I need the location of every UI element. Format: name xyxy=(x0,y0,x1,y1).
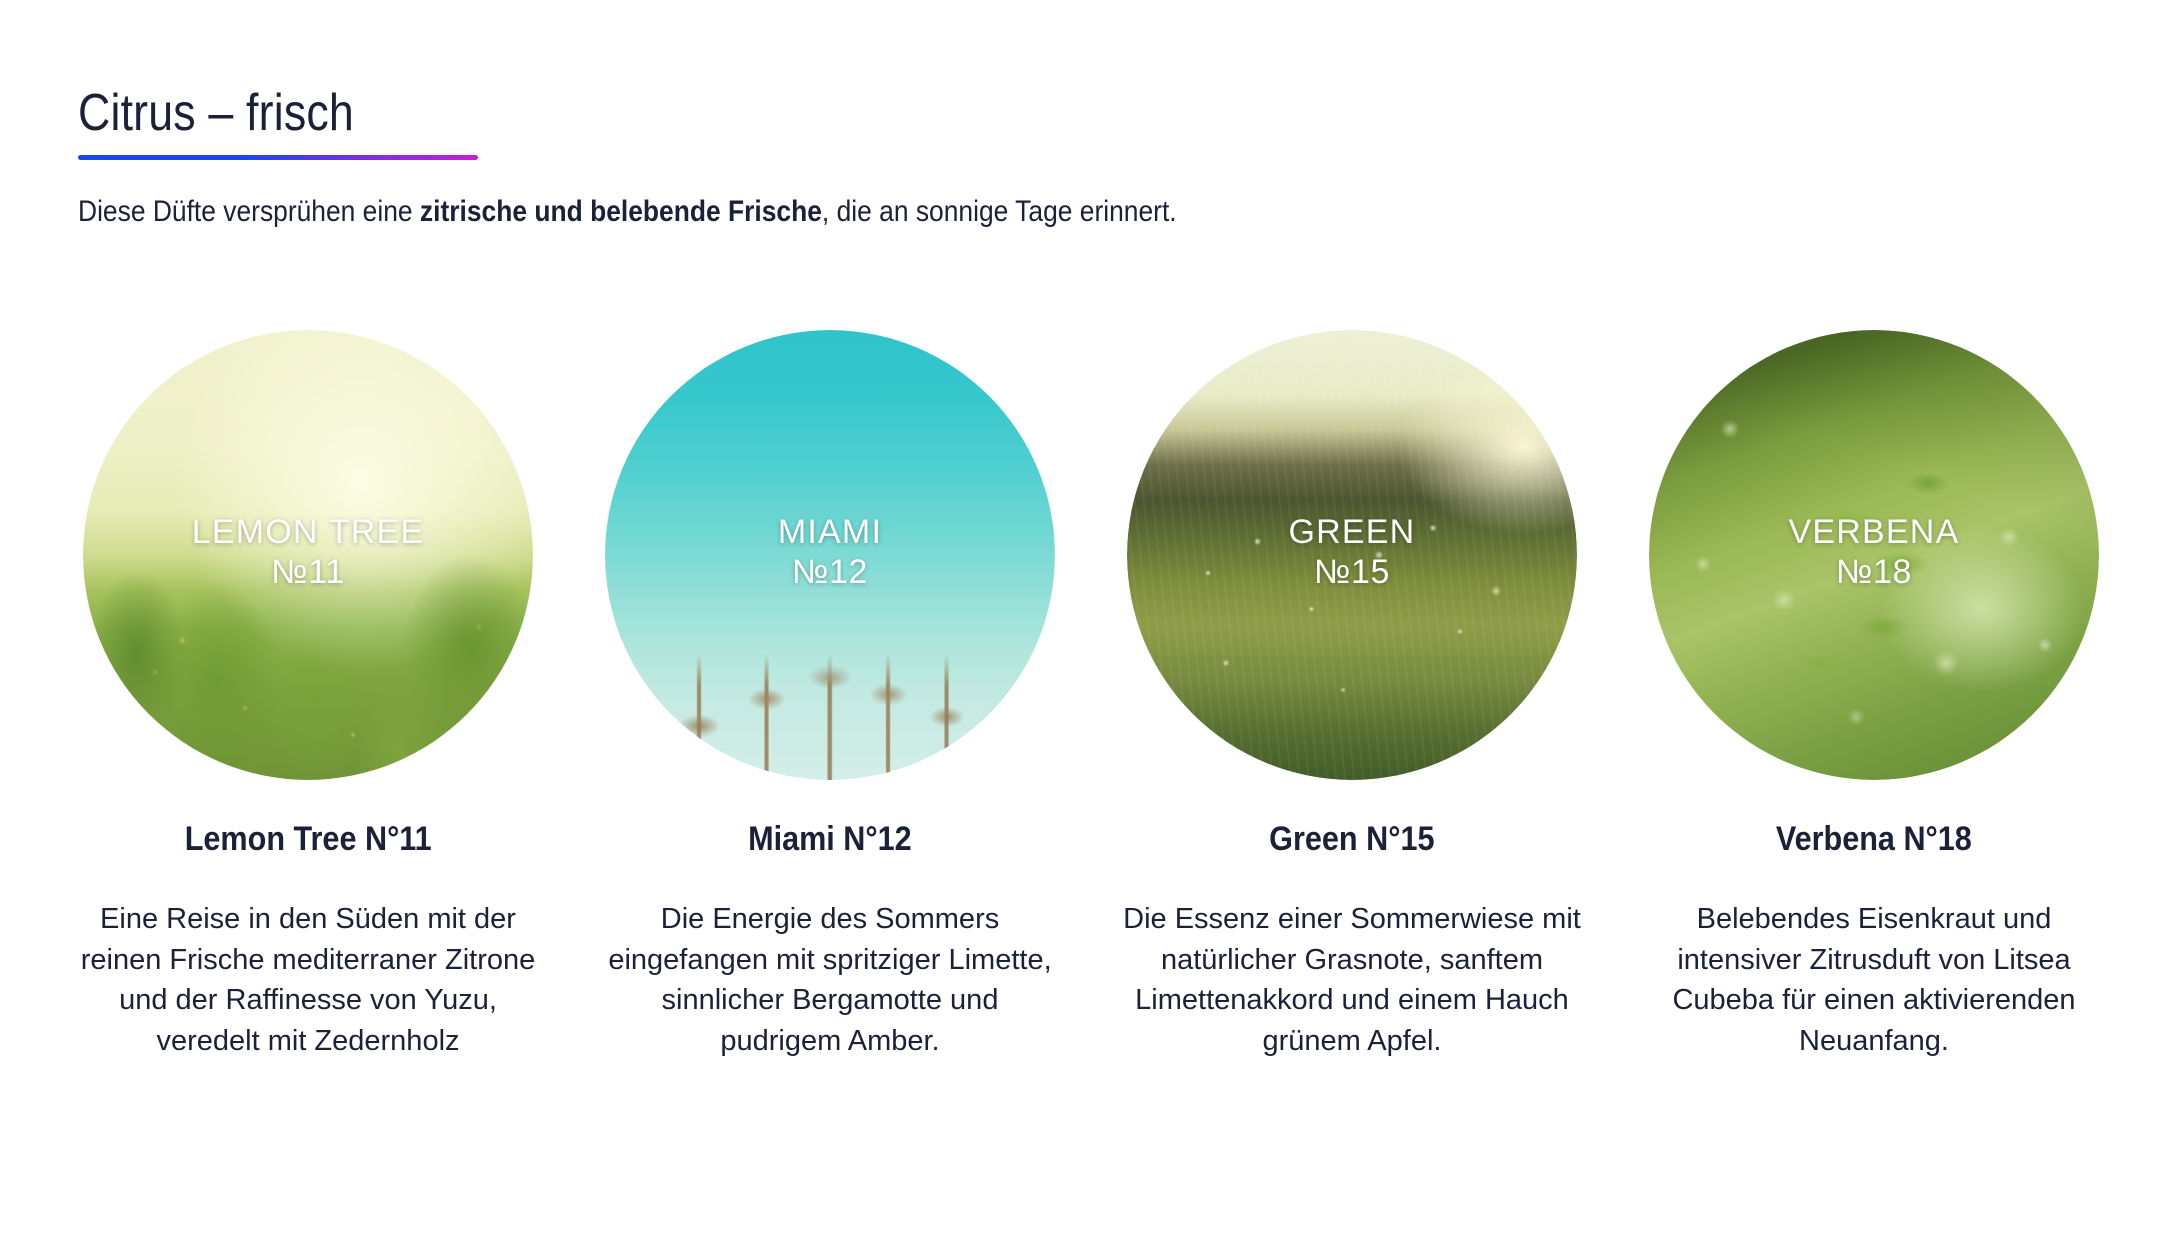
fragrance-card[interactable]: GREEN №15 Green N°15 Die Essenz einer So… xyxy=(1122,330,1582,1061)
fragrance-image-circle[interactable]: MIAMI №12 xyxy=(605,330,1055,780)
subtitle-text-after: , die an sonnige Tage erinnert. xyxy=(822,195,1177,228)
page-subtitle: Diese Düfte versprühen eine zitrische un… xyxy=(78,192,1803,233)
fragrance-title: Green N°15 xyxy=(1269,820,1434,859)
fragrance-title: Lemon Tree N°11 xyxy=(185,820,432,859)
fragrance-description: Belebendes Eisenkraut und intensiver Zit… xyxy=(1644,899,2104,1061)
page-title: Citrus – frisch xyxy=(78,86,1764,141)
fragrance-title: Miami N°12 xyxy=(748,820,912,859)
fragrance-image-circle[interactable]: LEMON TREE №11 xyxy=(83,330,533,780)
fragrance-card[interactable]: VERBENA №18 Verbena N°18 Belebendes Eise… xyxy=(1644,330,2104,1061)
fragrance-card-grid: LEMON TREE №11 Lemon Tree N°11 Eine Reis… xyxy=(78,330,2082,1061)
fragrance-description: Eine Reise in den Süden mit der reinen F… xyxy=(78,899,538,1061)
fragrance-image-circle[interactable]: VERBENA №18 xyxy=(1649,330,2099,780)
subtitle-text-bold: zitrische und belebende Frische xyxy=(420,195,822,228)
palm-trees-image xyxy=(605,330,1055,780)
fragrance-card[interactable]: LEMON TREE №11 Lemon Tree N°11 Eine Reis… xyxy=(78,330,538,1061)
title-accent-rule xyxy=(78,155,478,160)
fragrance-description: Die Essenz einer Sommerwiese mit natürli… xyxy=(1122,899,1582,1061)
subtitle-text-before: Diese Düfte versprühen eine xyxy=(78,195,420,228)
fragrance-title: Verbena N°18 xyxy=(1776,820,1972,859)
fragrance-category-page: Citrus – frisch Diese Düfte versprühen e… xyxy=(0,0,2160,1258)
meadow-grass-image xyxy=(1127,330,1577,780)
green-leaves-image xyxy=(1649,330,2099,780)
page-header: Citrus – frisch Diese Düfte versprühen e… xyxy=(78,86,2038,262)
lemon-orchard-image xyxy=(83,330,533,780)
fragrance-card[interactable]: MIAMI №12 Miami N°12 Die Energie des Som… xyxy=(600,330,1060,1061)
fragrance-description: Die Energie des Sommers eingefangen mit … xyxy=(600,899,1060,1061)
fragrance-image-circle[interactable]: GREEN №15 xyxy=(1127,330,1577,780)
